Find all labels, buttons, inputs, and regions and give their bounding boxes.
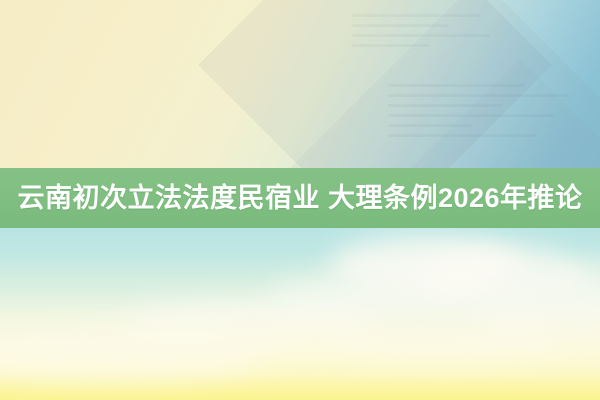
headline-text: 云南初次立法法度民宿业 大理条例2026年推论 — [17, 185, 582, 212]
banner-image: 云南初次立法法度民宿业 大理条例2026年推论 — [0, 0, 600, 400]
decorative-ghost-text — [388, 84, 578, 144]
cloud-shape — [0, 330, 260, 386]
cloud-shape — [330, 318, 560, 362]
decorative-ghost-text — [352, 14, 502, 54]
headline-band: 云南初次立法法度民宿业 大理条例2026年推论 — [0, 168, 600, 228]
